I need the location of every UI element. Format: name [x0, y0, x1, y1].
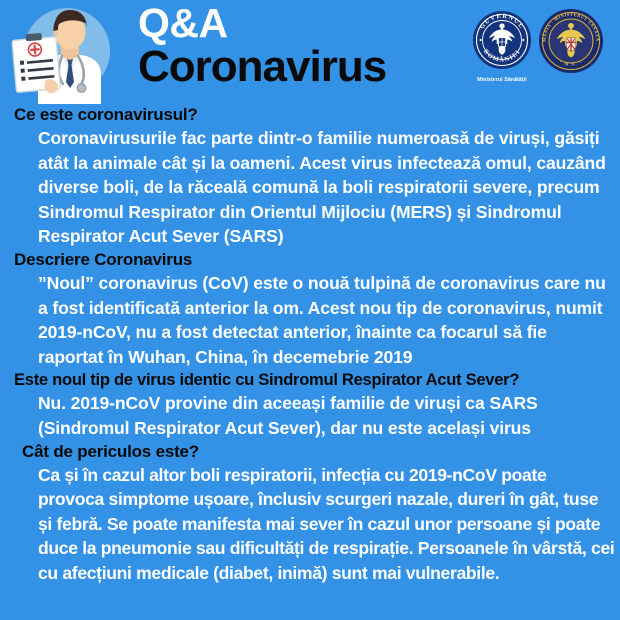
- qa-block: Descriere Coronavirus ”Noul” coronavirus…: [0, 249, 620, 369]
- header-titles: Q&A Coronavirus: [138, 2, 458, 90]
- qa-answer: Nu. 2019-nCoV provine din aceeași famili…: [0, 390, 620, 440]
- qa-question: Ce este coronavirusul?: [0, 104, 620, 125]
- qa-block: Este noul tip de virus identic cu Sindro…: [0, 369, 620, 440]
- ministerul-sanatatii-gold-seal-icon: ROMÂNIA · MINISTERUL SĂNĂTĂȚII · M.S. ·: [538, 8, 604, 79]
- qa-content-list: Ce este coronavirusul? Coronavirusurile …: [0, 104, 620, 586]
- page-title-qa: Q&A: [138, 2, 458, 44]
- qa-question: Cât de periculos este?: [0, 441, 620, 462]
- qa-answer: Coronavirusurile fac parte dintr-o famil…: [0, 125, 620, 249]
- government-emblems: GUVERNUL ROMÂNIEI Minist: [472, 6, 618, 96]
- guvernul-romaniei-seal-icon: GUVERNUL ROMÂNIEI Minist: [472, 10, 532, 83]
- coronavirus-qa-poster: Q&A Coronavirus GUVERNUL: [0, 0, 620, 620]
- qa-block: Cât de periculos este? Ca și în cazul al…: [0, 441, 620, 586]
- qa-answer: Ca și în cazul altor boli respiratorii, …: [0, 462, 620, 586]
- doctor-with-clipboard-illustration: [4, 2, 126, 104]
- page-title-coronavirus: Coronavirus: [138, 44, 458, 90]
- poster-header: Q&A Coronavirus GUVERNUL: [0, 0, 620, 104]
- emblem-caption: Ministerul Sănătății: [472, 77, 532, 83]
- qa-block: Ce este coronavirusul? Coronavirusurile …: [0, 104, 620, 249]
- qa-question: Este noul tip de virus identic cu Sindro…: [0, 369, 620, 390]
- qa-question: Descriere Coronavirus: [0, 249, 620, 270]
- qa-answer: ”Noul” coronavirus (CoV) este o nouă tul…: [0, 270, 620, 369]
